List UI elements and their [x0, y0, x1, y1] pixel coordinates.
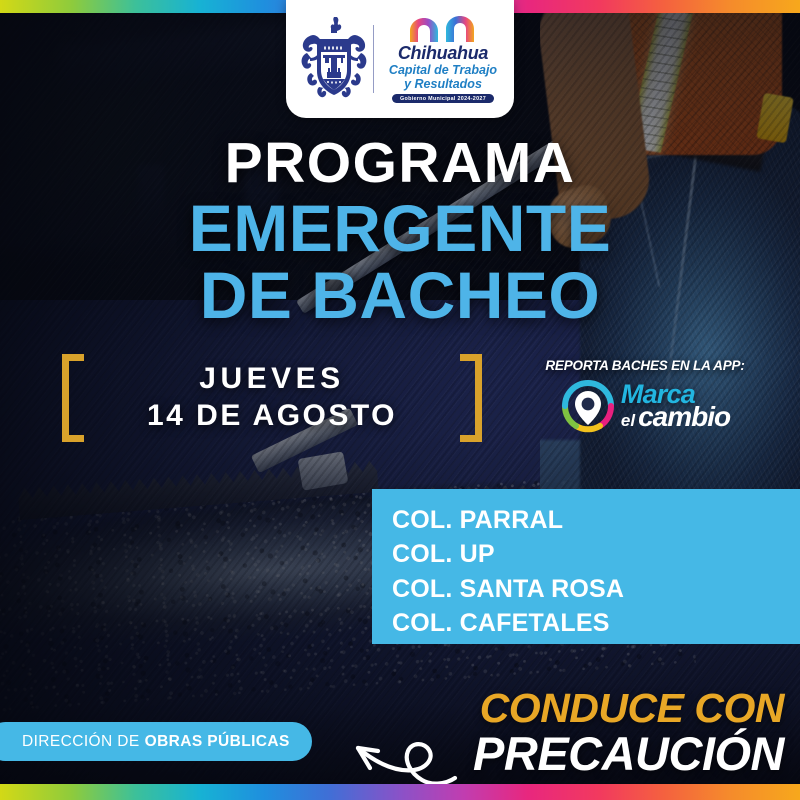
- colony-item: COL. CAFETALES: [392, 606, 800, 640]
- bracket-right-icon: [460, 354, 482, 442]
- app-name-cambio: cambio: [638, 405, 730, 430]
- date-day-month: 14 DE AGOSTO: [84, 398, 460, 435]
- app-name-row2: el cambio: [621, 405, 730, 430]
- date-weekday: JUEVES: [84, 361, 460, 398]
- department-name: OBRAS PÚBLICAS: [145, 733, 290, 751]
- headline-de-bacheo: DE BACHEO: [0, 262, 800, 329]
- caution-line-1: CONDUCE CON: [473, 688, 784, 729]
- rainbow-bar-bottom: [0, 784, 800, 800]
- department-prefix: DIRECCIÓN DE: [22, 733, 140, 751]
- caution-line-2: PRECAUCIÓN: [473, 729, 784, 778]
- app-wordmark: Marca el cambio: [621, 383, 730, 429]
- poster-canvas: Chihuahua Capital de Trabajo y Resultado…: [0, 0, 800, 800]
- date-text-group: JUEVES 14 DE AGOSTO: [84, 361, 460, 434]
- colony-item: COL. UP: [392, 537, 800, 571]
- caution-message: CONDUCE CON PRECAUCIÓN: [473, 688, 784, 778]
- logo-divider: [373, 25, 374, 93]
- date-block: JUEVES 14 DE AGOSTO: [62, 352, 482, 444]
- government-period-badge: Gobierno Municipal 2024-2027: [392, 94, 494, 103]
- curved-arrow-icon: [300, 700, 460, 790]
- app-logo-row: Marca el cambio: [510, 378, 780, 434]
- coat-of-arms-icon: [297, 15, 371, 103]
- colony-item: COL. SANTA ROSA: [392, 572, 800, 606]
- chihuahua-brand-lockup: Chihuahua Capital de Trabajo y Resultado…: [383, 15, 503, 104]
- app-name-el: el: [621, 414, 635, 429]
- government-logo-badge: Chihuahua Capital de Trabajo y Resultado…: [286, 0, 514, 118]
- chihuahua-tagline-2: y Resultados: [404, 77, 482, 91]
- app-callout: REPORTA BACHES EN LA APP: Marca el cambi…: [510, 358, 780, 434]
- app-callout-label: REPORTA BACHES EN LA APP:: [510, 358, 780, 373]
- department-pill: DIRECCIÓN DE OBRAS PÚBLICAS: [0, 722, 312, 761]
- bracket-left-icon: [62, 354, 84, 442]
- headline-emergente: EMERGENTE: [0, 195, 800, 262]
- colony-item: COL. PARRAL: [392, 503, 800, 537]
- headline-programa: PROGRAMA: [0, 136, 800, 191]
- chihuahua-wordmark: Chihuahua: [398, 44, 488, 62]
- headline-group: PROGRAMA EMERGENTE DE BACHEO: [0, 136, 800, 329]
- colonies-panel: COL. PARRAL COL. UP COL. SANTA ROSA COL.…: [372, 489, 800, 644]
- location-pin-icon: [560, 378, 616, 434]
- chihuahua-mountains-icon: [406, 15, 480, 43]
- chihuahua-tagline-1: Capital de Trabajo: [389, 63, 497, 77]
